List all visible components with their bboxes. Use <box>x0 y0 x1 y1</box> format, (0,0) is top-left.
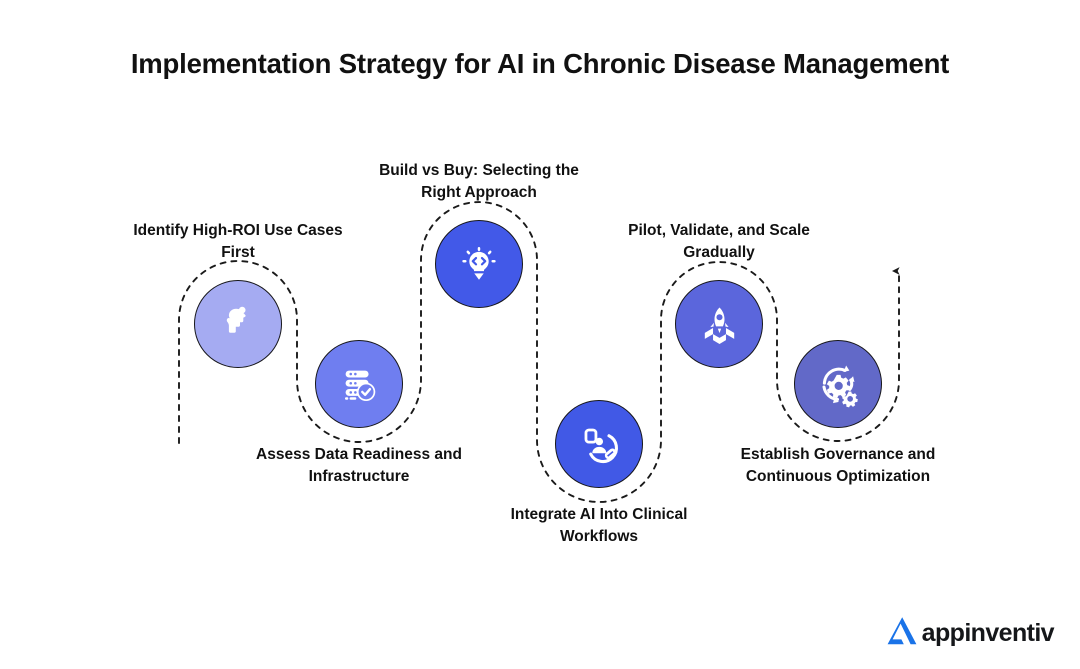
step-5[interactable]: Pilot, Validate, and Scale Gradually <box>675 280 763 368</box>
step-6[interactable]: Establish Governance and Continuous Opti… <box>794 340 882 428</box>
step-4[interactable]: Integrate AI Into Clinical Workflows <box>555 400 643 488</box>
step-3[interactable]: Build vs Buy: Selecting the Right Approa… <box>435 220 523 308</box>
appinventiv-chevron-logo-icon <box>886 615 919 651</box>
head-with-neural-nodes-icon <box>214 300 262 348</box>
database-check-icon <box>336 361 382 407</box>
patient-clipboard-pill-icon <box>576 421 622 467</box>
flow-connector-path <box>0 0 1080 669</box>
step-4-circle[interactable] <box>555 400 643 488</box>
step-2[interactable]: Assess Data Readiness and Infrastructure <box>315 340 403 428</box>
brand-logo-text: appinventiv <box>922 621 1054 646</box>
brand-logo: appinventiv <box>886 615 1054 651</box>
step-5-circle[interactable] <box>675 280 763 368</box>
step-1-label: Identify High-ROI Use Cases First <box>123 220 353 264</box>
lightbulb-code-icon <box>456 241 502 287</box>
gears-refresh-icon <box>815 361 862 408</box>
step-3-circle[interactable] <box>435 220 523 308</box>
step-1-circle[interactable] <box>194 280 282 368</box>
step-1[interactable]: Identify High-ROI Use Cases First <box>194 280 282 368</box>
page-title: Implementation Strategy for AI in Chroni… <box>0 48 1080 80</box>
step-3-label: Build vs Buy: Selecting the Right Approa… <box>364 160 594 204</box>
step-2-label: Assess Data Readiness and Infrastructure <box>244 444 474 488</box>
step-6-circle[interactable] <box>794 340 882 428</box>
step-2-circle[interactable] <box>315 340 403 428</box>
step-6-label: Establish Governance and Continuous Opti… <box>723 444 953 488</box>
rocket-launch-box-icon <box>696 301 743 348</box>
step-5-label: Pilot, Validate, and Scale Gradually <box>604 220 834 264</box>
step-4-label: Integrate AI Into Clinical Workflows <box>484 504 714 548</box>
infographic-canvas: Implementation Strategy for AI in Chroni… <box>0 0 1080 669</box>
